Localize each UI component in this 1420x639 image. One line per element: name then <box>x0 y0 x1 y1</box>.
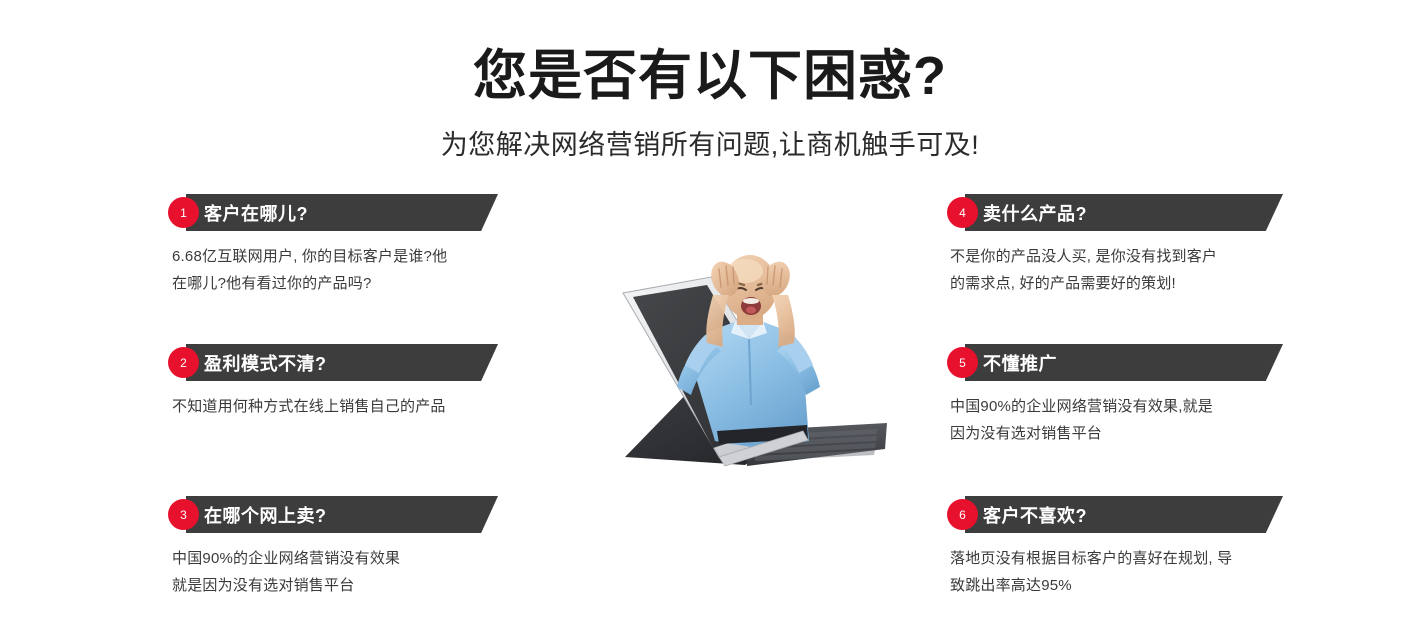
problem-card-2[interactable]: 2 盈利模式不清? 不知道用何种方式在线上销售自己的产品 <box>168 344 498 420</box>
page-subtitle: 为您解决网络营销所有问题,让商机触手可及! <box>0 129 1420 161</box>
card-body-text: 6.68亿互联网用户, 你的目标客户是谁?他 在哪儿?他有看过你的产品吗? <box>168 243 498 297</box>
card-title: 客户在哪儿? <box>204 194 308 231</box>
card-header: 4 卖什么产品? <box>947 194 1277 231</box>
man-teeth <box>743 298 759 304</box>
page-root: 您是否有以下困惑? 为您解决网络营销所有问题,让商机触手可及! 1 客户在哪儿?… <box>0 0 1420 639</box>
card-title: 卖什么产品? <box>983 194 1087 231</box>
man-tongue <box>746 307 756 314</box>
problem-card-1[interactable]: 1 客户在哪儿? 6.68亿互联网用户, 你的目标客户是谁?他 在哪儿?他有看过… <box>168 194 498 297</box>
card-body-text: 中国90%的企业网络营销没有效果 就是因为没有选对销售平台 <box>168 545 498 599</box>
illustration-svg <box>595 235 915 480</box>
problem-card-5[interactable]: 5 不懂推广 中国90%的企业网络营销没有效果,就是 因为没有选对销售平台 <box>947 344 1277 447</box>
card-number-badge: 1 <box>168 197 199 228</box>
problem-card-6[interactable]: 6 客户不喜欢? 落地页没有根据目标客户的喜好在规划, 导 致跳出率高达95% <box>947 496 1277 599</box>
card-body-text: 落地页没有根据目标客户的喜好在规划, 导 致跳出率高达95% <box>947 545 1277 599</box>
card-title: 盈利模式不清? <box>204 344 327 381</box>
card-number-badge: 5 <box>947 347 978 378</box>
card-number-badge: 6 <box>947 499 978 530</box>
frustrated-man-tablet-illustration <box>595 235 915 480</box>
problem-card-4[interactable]: 4 卖什么产品? 不是你的产品没人买, 是你没有找到客户 的需求点, 好的产品需… <box>947 194 1277 297</box>
card-header: 1 客户在哪儿? <box>168 194 498 231</box>
card-header: 3 在哪个网上卖? <box>168 496 498 533</box>
card-header: 5 不懂推广 <box>947 344 1277 381</box>
page-title: 您是否有以下困惑? <box>0 48 1420 105</box>
card-number-badge: 4 <box>947 197 978 228</box>
card-title: 在哪个网上卖? <box>204 496 327 533</box>
card-body-text: 不知道用何种方式在线上销售自己的产品 <box>168 393 498 420</box>
card-header: 6 客户不喜欢? <box>947 496 1277 533</box>
card-title: 客户不喜欢? <box>983 496 1087 533</box>
problem-card-3[interactable]: 3 在哪个网上卖? 中国90%的企业网络营销没有效果 就是因为没有选对销售平台 <box>168 496 498 599</box>
card-header: 2 盈利模式不清? <box>168 344 498 381</box>
card-number-badge: 2 <box>168 347 199 378</box>
card-body-text: 中国90%的企业网络营销没有效果,就是 因为没有选对销售平台 <box>947 393 1277 447</box>
card-title: 不懂推广 <box>983 344 1057 381</box>
card-number-badge: 3 <box>168 499 199 530</box>
card-body-text: 不是你的产品没人买, 是你没有找到客户 的需求点, 好的产品需要好的策划! <box>947 243 1277 297</box>
